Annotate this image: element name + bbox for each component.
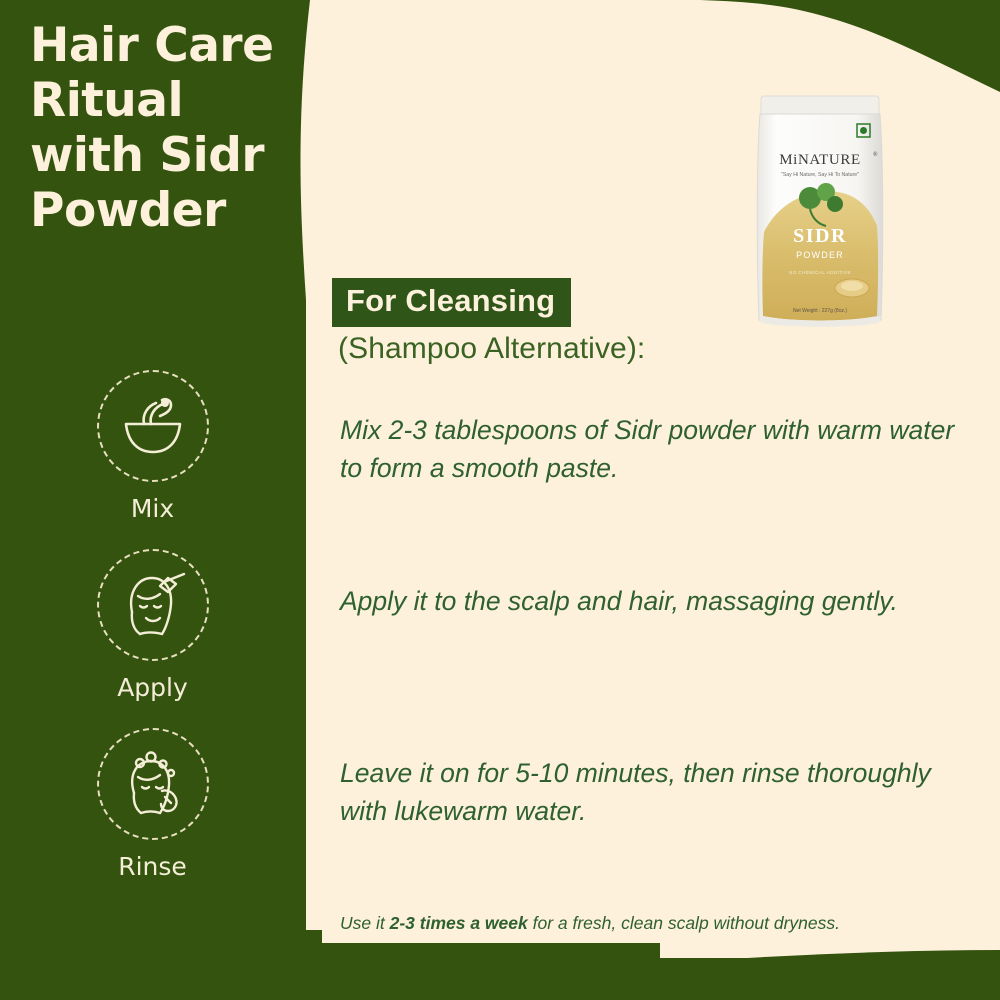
step-icon-circle — [97, 370, 209, 482]
mortar-pestle-icon — [118, 394, 188, 458]
step-label-apply: Apply — [60, 673, 245, 702]
page-title: Hair Care Ritual with Sidr Powder — [30, 18, 320, 238]
svg-text:POWDER: POWDER — [796, 250, 844, 260]
section-ribbon-label: For Cleansing — [332, 278, 571, 327]
instruction-step-3: Leave it on for 5-10 minutes, then rinse… — [340, 755, 970, 830]
page-title-line-2: Ritual — [30, 73, 320, 128]
svg-text:NO CHEMICAL ADDITIVE: NO CHEMICAL ADDITIVE — [789, 270, 851, 275]
step-label-rinse: Rinse — [60, 852, 245, 881]
footer-note-suffix: for a fresh, clean scalp without dryness… — [528, 913, 840, 933]
infographic-canvas: Hair Care Ritual with Sidr Powder Mix — [0, 0, 1000, 1000]
svg-text:SIDR: SIDR — [793, 225, 847, 247]
steps-list: Mix Apply — [60, 370, 245, 907]
step-item-rinse: Rinse — [60, 728, 245, 881]
svg-text:MiNATURE: MiNATURE — [779, 152, 860, 168]
step-icon-circle — [97, 549, 209, 661]
page-title-line-3: with Sidr — [30, 128, 320, 183]
section-subtitle: (Shampoo Alternative): — [338, 332, 645, 366]
svg-text:®: ® — [873, 151, 878, 158]
sidr-powder-pouch-icon: MiNATURE ® "Say Hi Nature, Say Hi To Nat… — [740, 92, 900, 332]
product-image: MiNATURE ® "Say Hi Nature, Say Hi To Nat… — [740, 92, 900, 332]
page-title-line-4: Powder — [30, 183, 320, 238]
hair-brush-application-icon — [118, 572, 188, 638]
svg-text:Net Weight : 227g (8oz.): Net Weight : 227g (8oz.) — [793, 308, 847, 314]
footer-note-prefix: Use it — [340, 913, 390, 933]
footer-note: Use it 2-3 times a week for a fresh, cle… — [322, 905, 960, 943]
hair-rinse-icon — [118, 751, 188, 817]
step-icon-circle — [97, 728, 209, 840]
footer-note-emphasis: 2-3 times a week — [390, 913, 528, 933]
instruction-step-2: Apply it to the scalp and hair, massagin… — [340, 583, 970, 621]
step-item-mix: Mix — [60, 370, 245, 523]
step-label-mix: Mix — [60, 494, 245, 523]
step-item-apply: Apply — [60, 549, 245, 702]
svg-text:"Say Hi Nature, Say Hi To Natu: "Say Hi Nature, Say Hi To Nature" — [781, 172, 859, 178]
instruction-step-1: Mix 2-3 tablespoons of Sidr powder with … — [340, 412, 970, 487]
page-title-line-1: Hair Care — [30, 18, 320, 73]
